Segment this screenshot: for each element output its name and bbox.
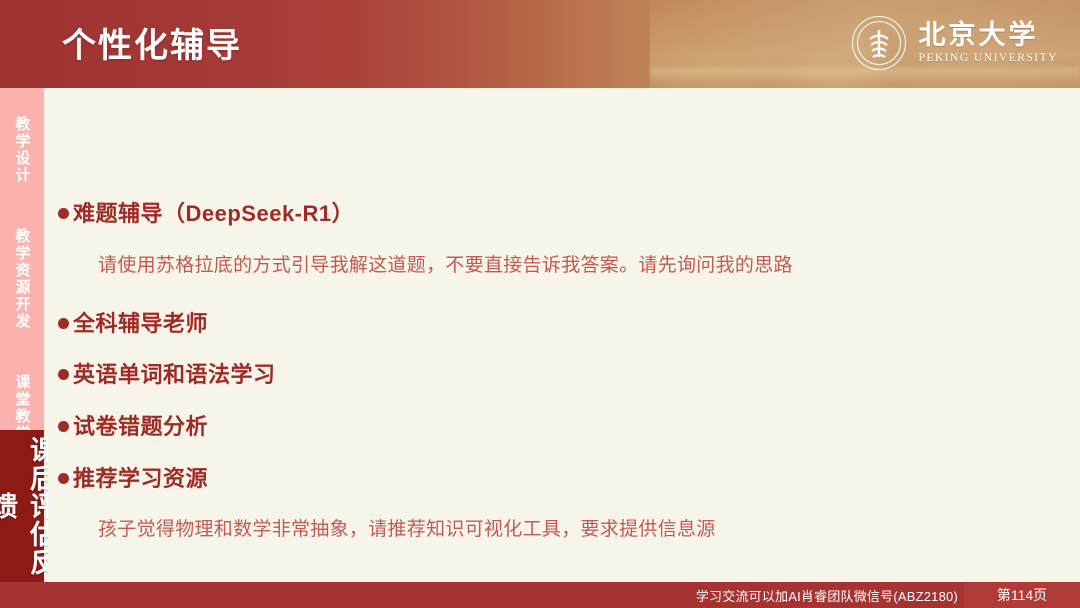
bullet-label: 全科辅导老师 bbox=[73, 306, 208, 338]
bullet-item: 试卷错题分析 bbox=[58, 409, 208, 441]
page-number-box: 第114页 bbox=[964, 582, 1080, 608]
bullet-subtext: 孩子觉得物理和数学非常抽象，请推荐知识可视化工具，要求提供信息源 bbox=[98, 514, 716, 541]
slide-content: 难题辅导（DeepSeek-R1） 请使用苏格拉底的方式引导我解这道题，不要直接… bbox=[48, 88, 1080, 582]
pku-logo-wordmark: 北京大学 PEKING UNIVERSITY bbox=[918, 22, 1058, 64]
sidebar-item-label: 教学资源开发 bbox=[12, 228, 33, 330]
sidebar-item-label: 教学设计 bbox=[12, 116, 33, 184]
slide-root: 个性化辅导 北京大学 PEKING UNIVERSITY 教学设计 bbox=[0, 0, 1080, 608]
bullet-item: 难题辅导（DeepSeek-R1） bbox=[58, 196, 354, 228]
pku-seal-icon bbox=[852, 16, 906, 70]
bullet-subtext: 请使用苏格拉底的方式引导我解这道题，不要直接告诉我答案。请先询问我的思路 bbox=[98, 250, 793, 277]
bullet-item: 英语单词和语法学习 bbox=[58, 357, 276, 389]
bullet-dot-icon bbox=[58, 318, 69, 329]
page-title: 个性化辅导 bbox=[62, 18, 242, 67]
pku-logo-english: PEKING UNIVERSITY bbox=[918, 52, 1058, 64]
slide-header: 个性化辅导 北京大学 PEKING UNIVERSITY bbox=[0, 0, 1080, 88]
section-sidebar: 教学设计 教学资源开发 课堂教学 课后评估反馈 bbox=[0, 88, 44, 582]
bullet-item: 全科辅导老师 bbox=[58, 306, 208, 338]
sidebar-item-teaching-design[interactable]: 教学设计 bbox=[0, 102, 44, 198]
footer-note: 学习交流可以加AI肖睿团队微信号(ABZ2180) bbox=[696, 586, 958, 605]
bullet-dot-icon bbox=[58, 473, 69, 484]
sidebar-item-resource-development[interactable]: 教学资源开发 bbox=[0, 220, 44, 338]
sidebar-item-post-class-evaluation[interactable]: 课后评估反馈 bbox=[0, 430, 44, 582]
bullet-dot-icon bbox=[58, 369, 69, 380]
bullet-label: 英语单词和语法学习 bbox=[73, 357, 276, 389]
bullet-label: 试卷错题分析 bbox=[73, 409, 208, 441]
bullet-label: 难题辅导（DeepSeek-R1） bbox=[73, 196, 354, 228]
pku-logo: 北京大学 PEKING UNIVERSITY bbox=[852, 12, 1058, 74]
bullet-dot-icon bbox=[58, 421, 69, 432]
bullet-item: 推荐学习资源 bbox=[58, 461, 208, 493]
bullet-dot-icon bbox=[58, 208, 69, 219]
pku-logo-chinese: 北京大学 bbox=[918, 22, 1038, 50]
bullet-label: 推荐学习资源 bbox=[73, 461, 208, 493]
page-number: 第114页 bbox=[997, 585, 1047, 605]
slide-footer: 学习交流可以加AI肖睿团队微信号(ABZ2180) 第114页 bbox=[0, 582, 1080, 608]
